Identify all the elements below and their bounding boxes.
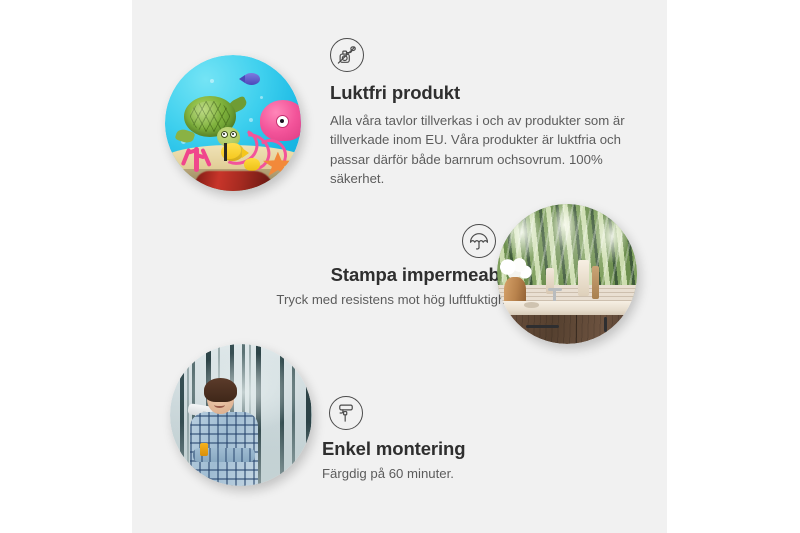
forest-wallpaper-photo-inner (170, 344, 312, 486)
feature-title: Stampa impermeabile (220, 264, 520, 286)
bathroom-wallpaper-photo (497, 204, 637, 344)
feature-title: Luktfri produkt (330, 82, 630, 104)
bathroom-bottle (592, 266, 599, 300)
paint-roller-icon (329, 396, 363, 430)
yellow-fish-icon (221, 143, 244, 161)
coral-icon (177, 131, 215, 172)
person-hair (204, 378, 237, 402)
feature-body: Alla våra tavlor tillverkas i och av pro… (330, 111, 630, 188)
wood-cabinet (504, 315, 637, 344)
sea-foreground-band (195, 171, 274, 191)
faucet-icon (553, 288, 556, 302)
soap-dish (524, 302, 539, 308)
infographic-canvas: Luktfri produkt Alla våra tavlor tillver… (132, 0, 667, 533)
cabinet-handle (604, 317, 607, 332)
octopus-eye (276, 115, 289, 128)
umbrella-icon (462, 224, 496, 258)
feature-block-easy-mounting: Enkel montering Färgdig på 60 minuter. (322, 396, 622, 483)
feature-body: Tryck med resistens mot hög luftfuktighe… (220, 290, 520, 309)
purple-fish-icon (243, 73, 261, 85)
bubble-icon (260, 96, 263, 99)
feature-block-odour-free: Luktfri produkt Alla våra tavlor tillver… (330, 38, 630, 188)
feature-body: Färgdig på 60 minuter. (322, 464, 622, 483)
cabinet-handle (526, 325, 559, 328)
underwater-cartoon-photo-inner (165, 55, 301, 191)
infographic-page: Luktfri produkt Alla våra tavlor tillver… (0, 0, 800, 533)
no-odour-perfume-bottle-icon (330, 38, 364, 72)
cabinet-seam (576, 315, 577, 344)
yellow-fish-icon (244, 158, 260, 170)
bubble-icon (249, 118, 253, 122)
underwater-cartoon-photo (165, 55, 301, 191)
forest-wallpaper-photo (170, 344, 312, 486)
feature-block-waterproof: Stampa impermeabile Tryck med resistens … (220, 224, 520, 309)
turtle-eye (221, 131, 228, 138)
paint-roller-grip (200, 443, 209, 456)
bathroom-bottle (578, 260, 589, 296)
feature-title: Enkel montering (322, 438, 622, 460)
bathroom-wallpaper-photo-inner (497, 204, 637, 344)
